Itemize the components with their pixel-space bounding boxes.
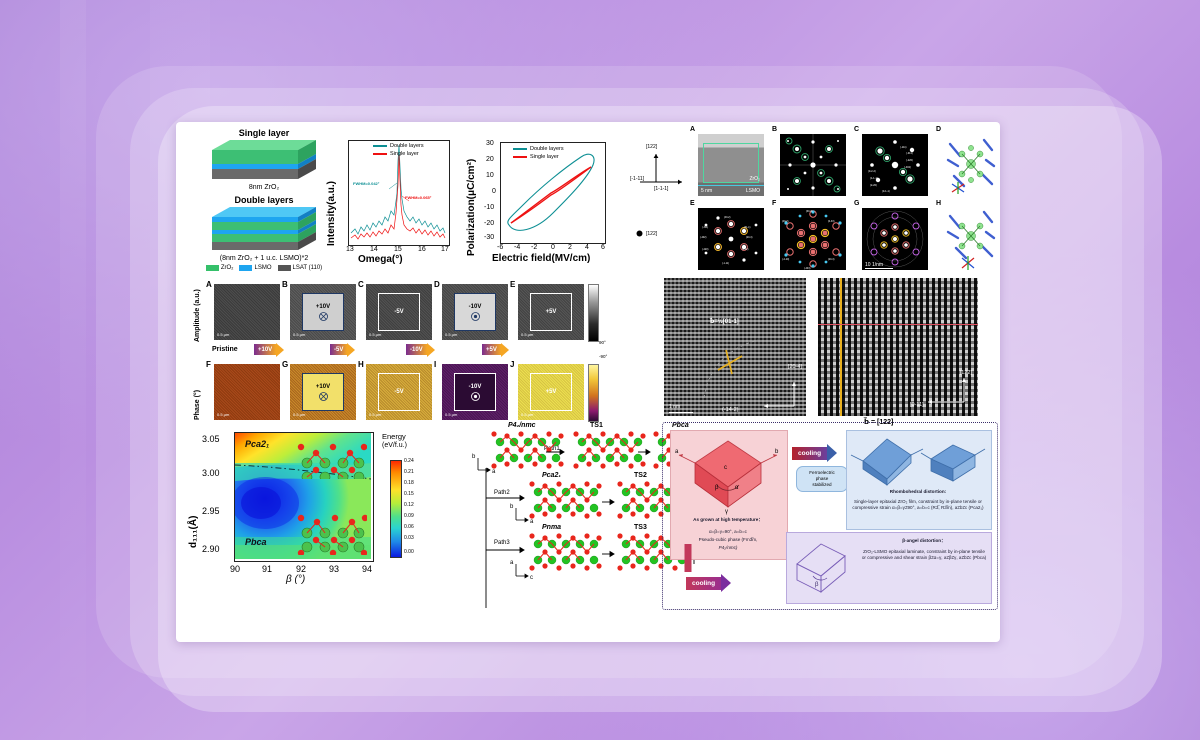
svg-text:(-402): (-402) <box>904 165 911 169</box>
legend-item-lsat: LSAT (110) <box>278 265 323 271</box>
out-of-page-icon <box>471 392 480 401</box>
pe-xtick-2: -2 <box>531 244 537 251</box>
pfm-arrow-label: +5V <box>482 344 501 355</box>
pfm-image-b-plus10v: +10V 0.5 μm <box>290 284 356 340</box>
svg-text:a: a <box>492 469 496 475</box>
scale-bar: 0.5 μm <box>293 332 305 337</box>
tem-label-lsmo: LSMO <box>746 188 760 194</box>
xrd-xtick-2: 15 <box>394 246 402 253</box>
poled-square: +10V <box>302 373 344 411</box>
pe-xtick-0: -6 <box>497 244 503 251</box>
colorbar-tick-7: 0.03 <box>404 535 414 541</box>
beta-angle-box: β β-angel distortion： ZrO₂-LSMO epitaxia… <box>786 532 992 604</box>
tem-letter-c: C <box>854 126 859 133</box>
cooling-elbow-icon <box>678 544 700 580</box>
xrd-legend: Double layers Single layer <box>373 142 424 158</box>
hrtem-panel: b⃗=½[01-1] [20-4] (-14-2) 1 nm [122] [0-… <box>654 278 998 418</box>
pfm-letter-j: J <box>510 360 514 369</box>
svg-text:a: a <box>530 519 534 525</box>
contour-xtick-1: 91 <box>262 564 272 574</box>
pfm-image-i-minus10v: -10V 0.5 μm <box>442 364 508 420</box>
svg-text:α: α <box>735 485 739 491</box>
asgrown-title: As grown at high temperature： <box>674 517 782 523</box>
pe-ytick-4: -10 <box>484 204 494 211</box>
svg-text:(-220): (-220) <box>702 248 709 251</box>
colorbar-tick-5: 0.09 <box>404 513 414 519</box>
pfm-letter-f: F <box>206 360 211 369</box>
poled-square: -10V <box>454 373 496 411</box>
pe-y-axis-label: Polarization(μC/cm²) <box>466 159 477 256</box>
legend-item-zro2: ZrO₂ <box>206 265 234 271</box>
pfm-image-c-minus5v: -5V 0.5 μm <box>366 284 432 340</box>
pfm-bias-label-e: +5V <box>546 309 557 315</box>
svg-text:a: a <box>675 449 679 455</box>
rhombohedral-title: Rhombohedral distortion: <box>851 489 985 495</box>
contour-ytick-3: 2.90 <box>202 544 220 554</box>
pfm-letter-c: C <box>358 280 364 289</box>
pe-ytick-0: 30 <box>486 140 494 147</box>
pfm-image-a-pristine: 0.5 μm <box>214 284 280 340</box>
tem-letter-h: H <box>936 200 941 207</box>
pe-ytick-3: 0 <box>492 188 496 195</box>
scale-bar: 0.5 μm <box>369 332 381 337</box>
crystal-model-icon <box>944 134 998 196</box>
xrd-annotation-double: FWHM=0.042° <box>353 181 379 186</box>
scale-bar: 0.5 μm <box>521 332 533 337</box>
pfm-bias-label-j: +5V <box>546 389 557 395</box>
svg-text:(-2-20): (-2-20) <box>782 258 789 261</box>
triad-label-122: [122] <box>646 144 657 150</box>
colorbar-tick-6: 0.06 <box>404 524 414 530</box>
poled-square: -10V <box>454 293 496 331</box>
schematic-caption-single: 8nm ZrO₂ <box>194 184 334 191</box>
hrtem-scale-left: 1 nm <box>669 404 680 410</box>
tem-image-g-rings: 10 1/nm <box>862 208 928 270</box>
pfm-letter-b: B <box>282 280 288 289</box>
scale-bar: 0.5 μm <box>217 412 229 417</box>
pfm-image-g-plus10v: +10V 0.5 μm <box>290 364 356 420</box>
double-layer-stack <box>194 205 326 253</box>
hrtem-image-left: b⃗=½[01-1] [20-4] (-14-2) 1 nm <box>664 278 806 416</box>
svg-text:c: c <box>724 465 727 471</box>
tem-label-zro2: ZrO₂ <box>749 176 760 182</box>
scale-bar: 0.5 μm <box>217 332 229 337</box>
direction-axes-icon <box>754 376 804 412</box>
crystal-model-icon <box>944 208 998 270</box>
pfm-arrow-minus10v: -10V <box>406 344 435 355</box>
scale-bar: 0.5 μm <box>293 412 305 417</box>
xrd-x-axis-label: Omega(°) <box>358 254 403 265</box>
pfm-bias-label-c: -5V <box>394 309 403 315</box>
contour-plot-area: Pca2₁ Pbca <box>234 432 374 562</box>
beta-body: ZrO₂-LSMO epitaxial laminate, constraint… <box>861 549 987 561</box>
beta-title: β-angel distortion： <box>861 538 987 544</box>
pe-legend-single: Single layer <box>513 153 564 161</box>
xrd-legend-double: Double layers <box>373 142 424 150</box>
svg-text:b: b <box>775 449 779 455</box>
saed-spots-e: (40-2)(31-1)(20-4) (0-22)(-1-11)(-220) (… <box>698 208 764 270</box>
scale-bar: 0.5 μm <box>445 412 457 417</box>
pfm-amplitude-label: Amplitude (a.u.) <box>194 289 201 342</box>
pfm-arrow-label: +10V <box>254 344 276 355</box>
svg-text:(-111): (-111) <box>900 145 907 149</box>
pfm-image-h-minus5v: -5V 0.5 μm <box>366 364 432 420</box>
tem-scale-5nm: 5 nm <box>701 188 712 194</box>
asgrown-line2: Pseudo-cubic phase (Fm3̅m, <box>674 537 782 543</box>
colorbar-tick-4: 0.12 <box>404 502 414 508</box>
pfm-letter-h: H <box>358 360 364 369</box>
amplitude-colorbar <box>588 284 599 342</box>
pfm-letter-a: A <box>206 280 212 289</box>
colorbar-tick-3: 0.15 <box>404 491 414 497</box>
svg-text:(60-3): (60-3) <box>806 210 813 213</box>
svg-text:(-402): (-402) <box>700 236 707 239</box>
svg-text:(40-2): (40-2) <box>724 216 731 219</box>
asgrown-block: a b c β α γ As grown at high temperature… <box>670 430 788 560</box>
tem-image-e-saed: (40-2)(31-1)(20-4) (0-22)(-1-11)(-220) (… <box>698 208 764 270</box>
tem-image-c-indexed: (-111)(-311) (-220)(-402) (0-2-2)(1-1-1)… <box>862 134 928 196</box>
poled-square: +10V <box>302 293 344 331</box>
pe-hysteresis-panel: Polarization(μC/cm²) Double layers Singl… <box>466 134 616 270</box>
svg-text:β: β <box>815 582 819 588</box>
into-page-icon <box>319 312 328 321</box>
pill-ferroelectric: Ferroelectric phase stabilized <box>796 466 848 492</box>
rhombohedral-box: Rhombohedral distortion: Single-layer ep… <box>846 430 992 530</box>
triad-label-m1m11: [-1-11] <box>630 176 644 182</box>
hrtem-dir-m14-2: (-14-2) <box>722 407 739 413</box>
contour-x-axis-label: β (°) <box>286 574 305 585</box>
svg-text:(0-2-2): (0-2-2) <box>868 169 876 173</box>
contour-xtick-2: 92 <box>296 564 306 574</box>
pfm-bias-label-i: -10V <box>469 384 482 390</box>
pfm-letter-g: G <box>282 360 288 369</box>
pfm-sequence-pristine: Pristine <box>212 346 238 353</box>
tem-image-a-crosssection: ZrO₂ LSMO 5 nm <box>698 134 764 196</box>
tem-image-b-fft <box>780 134 846 196</box>
rhombohedral-body: Single-layer epitaxial ZrO₂ film, constr… <box>851 499 985 511</box>
inset-structure-pca21 <box>297 439 367 479</box>
tem-diffraction-panel: [122] [-1-11] [1-1-1] [122] A B C D E F … <box>632 126 998 276</box>
phase-colorbar-min: -90° <box>599 354 607 359</box>
hrtem-image-right: [122] [0-11] <box>818 278 978 416</box>
tem-image-f-simulated: (60-3)(40-2)(0-33) (20-4)(-2-20)(-404) <box>780 208 846 270</box>
pe-xtick-1: -4 <box>514 244 520 251</box>
svg-text:(-311): (-311) <box>906 151 913 155</box>
direction-axes-icon <box>920 370 974 410</box>
scale-bar: 0.5 μm <box>369 412 381 417</box>
phase-region-label-pbca: Pbca <box>245 537 267 547</box>
pfm-arrow-plus10v: +10V <box>254 344 284 355</box>
pfm-bias-label-g: +10V <box>316 384 330 390</box>
pe-ytick-5: -20 <box>484 220 494 227</box>
phase-colorbar <box>588 364 599 422</box>
pe-xtick-4: 2 <box>568 244 572 251</box>
xrd-xtick-0: 13 <box>346 246 354 253</box>
pe-legend-double: Double layers <box>513 145 564 153</box>
contour-ytick-1: 3.00 <box>202 468 220 478</box>
pe-ytick-2: 10 <box>486 172 494 179</box>
fft-spots <box>780 134 846 196</box>
legend-item-lsmo: LSMO <box>239 265 271 271</box>
zone-axis-marker: [122] <box>636 230 657 237</box>
pfm-image-d-minus10v: -10V 0.5 μm <box>442 284 508 340</box>
contour-xtick-0: 90 <box>230 564 240 574</box>
pfm-arrow-plus5v: +5V <box>482 344 509 355</box>
svg-text:b: b <box>472 454 476 460</box>
pfm-image-j-plus5v: +5V 0.5 μm <box>518 364 584 420</box>
pe-xtick-6: 6 <box>601 244 605 251</box>
pfm-bias-label-b: +10V <box>316 304 330 310</box>
tem-letter-b: B <box>772 126 777 133</box>
saed-spots-f: (60-3)(40-2)(0-33) (20-4)(-2-20)(-404) <box>780 208 846 270</box>
indexed-spots: (-111)(-311) (-220)(-402) (0-2-2)(1-1-1)… <box>862 134 928 196</box>
poled-square: -5V <box>378 373 420 411</box>
cooling-arrow-top-label: cooling <box>792 447 827 460</box>
schematic-title-double: Double layers <box>194 195 334 205</box>
svg-text:(3-1-1): (3-1-1) <box>882 189 890 193</box>
contour-xtick-3: 93 <box>329 564 339 574</box>
pfm-letter-e: E <box>510 280 515 289</box>
pfm-bias-label-h: -5V <box>394 389 403 395</box>
svg-text:(2-20): (2-20) <box>870 183 877 187</box>
pe-ytick-1: 20 <box>486 156 494 163</box>
schematic-title-single: Single layer <box>194 128 334 138</box>
svg-text:(31-1): (31-1) <box>744 226 751 229</box>
schematic-legend: ZrO₂ LSMO LSAT (110) <box>194 265 334 271</box>
zone-axis-label: [122] <box>646 231 657 237</box>
pfm-arrow-label: -10V <box>406 344 427 355</box>
pe-xtick-5: 4 <box>585 244 589 251</box>
tem-letter-d: D <box>936 126 941 133</box>
svg-text:(-220): (-220) <box>906 158 913 162</box>
xrd-y-axis-label: Intensity(a.u.) <box>326 181 337 246</box>
energy-colorbar <box>390 460 402 558</box>
svg-text:β: β <box>715 485 719 491</box>
pfm-arrow-minus5v: -5V <box>330 344 355 355</box>
xrd-plot-area: Double layers Single layer FWHM=0.042° F… <box>348 140 450 246</box>
svg-text:(1-1-1): (1-1-1) <box>870 176 878 180</box>
poled-square: +5V <box>530 373 572 411</box>
colorbar-units: (eV/f.u.) <box>382 442 407 449</box>
phase-region-label-pca21: Pca2₁ <box>245 439 269 449</box>
schematic-caption-double: (8nm ZrO₂ + 1 u.c. LSMO)*2 <box>194 255 334 262</box>
pe-ytick-6: -30 <box>484 234 494 241</box>
mechanism-schematic-panel: a b c β α γ As grown at high temperature… <box>662 422 996 618</box>
tem-letter-a: A <box>690 126 695 133</box>
svg-text:(0-33): (0-33) <box>828 220 835 223</box>
pfm-letter-i: I <box>434 360 436 369</box>
colorbar-tick-8: 0.00 <box>404 549 414 555</box>
tem-model-d <box>944 134 998 196</box>
out-of-page-icon <box>471 312 480 321</box>
poled-square: +5V <box>530 293 572 331</box>
pseudocubic-cell-icon: a b c β α γ <box>671 433 785 515</box>
tem-letter-e: E <box>690 200 695 207</box>
tem-letter-g: G <box>854 200 859 207</box>
tem-model-h <box>944 208 998 270</box>
colorbar-tick-1: 0.21 <box>404 469 414 475</box>
tem-letter-f: F <box>772 200 776 207</box>
xrd-annotation-single: FWHM=0.065° <box>405 195 431 200</box>
svg-text:a: a <box>510 560 514 566</box>
pfm-phase-label: Phase (°) <box>194 390 201 420</box>
beta-distortion-cell-icon: β <box>789 536 859 600</box>
hrtem-dir-20-4: [20-4] <box>788 364 802 370</box>
pe-xtick-3: 0 <box>551 244 555 251</box>
pfm-image-f-pristine: 0.5 μm <box>214 364 280 420</box>
scale-bar: 0.5 μm <box>521 412 533 417</box>
contour-ytick-0: 3.05 <box>202 434 220 444</box>
colorbar-tick-2: 0.18 <box>404 480 414 486</box>
svg-text:(0-22): (0-22) <box>742 248 749 251</box>
phase-colorbar-max: 90° <box>599 340 606 345</box>
xrd-xtick-4: 17 <box>441 246 449 253</box>
pfm-bias-label-d: -10V <box>469 304 482 310</box>
cooling-arrow-top: cooling <box>792 444 837 462</box>
svg-text:(-404): (-404) <box>804 267 811 270</box>
asgrown-line1: α=β=γ=90°, a=b=c <box>674 529 782 535</box>
pfm-letter-d: D <box>434 280 440 289</box>
xrd-legend-single: Single layer <box>373 150 424 158</box>
into-page-icon <box>319 392 328 401</box>
poled-square: -5V <box>378 293 420 331</box>
single-layer-stack <box>194 138 326 182</box>
contour-ytick-2: 2.95 <box>202 506 220 516</box>
rhombohedral-cells-icon <box>847 433 989 489</box>
xrd-xtick-1: 14 <box>370 246 378 253</box>
svg-text:(-311): (-311) <box>702 226 708 229</box>
scale-bar: 0.5 μm <box>445 332 457 337</box>
colorbar-title: Energy <box>382 432 406 441</box>
pfm-arrow-label: -5V <box>330 344 347 355</box>
figure-card: Single layer 8nm ZrO₂ Double layers (8nm… <box>176 122 1000 642</box>
svg-text:b: b <box>510 504 514 510</box>
inset-structure-pbca <box>297 513 367 555</box>
xrd-rocking-curve-panel: Intensity(a.u.) Double layers Single lay… <box>324 134 452 268</box>
svg-text:(40-2): (40-2) <box>782 220 789 223</box>
svg-text:γ: γ <box>725 509 728 515</box>
svg-text:c: c <box>530 575 533 581</box>
pfm-image-e-plus5v: +5V 0.5 μm <box>518 284 584 340</box>
svg-text:(20-4): (20-4) <box>828 258 835 261</box>
triad-label-1m1m1: [1-1-1] <box>654 186 668 192</box>
colorbar-tick-0: 0.24 <box>404 458 414 464</box>
layer-schematic-panel: Single layer 8nm ZrO₂ Double layers (8nm… <box>194 128 334 268</box>
contour-y-axis-label: d₁₁₁(Å) <box>188 516 199 548</box>
saed-rings-g <box>862 208 928 270</box>
pe-x-axis-label: Electric field(MV/cm) <box>492 253 590 264</box>
pe-legend: Double layers Single layer <box>513 145 564 161</box>
contour-xtick-4: 94 <box>362 564 372 574</box>
xrd-xtick-3: 16 <box>418 246 426 253</box>
svg-text:(20-4): (20-4) <box>746 236 753 239</box>
pe-plot-area: Double layers Single layer <box>500 142 606 244</box>
energy-phase-diagram-panel: d₁₁₁(Å) 3.05 3.00 2.95 2.90 <box>186 422 466 618</box>
svg-text:(-1-11): (-1-11) <box>722 262 729 265</box>
